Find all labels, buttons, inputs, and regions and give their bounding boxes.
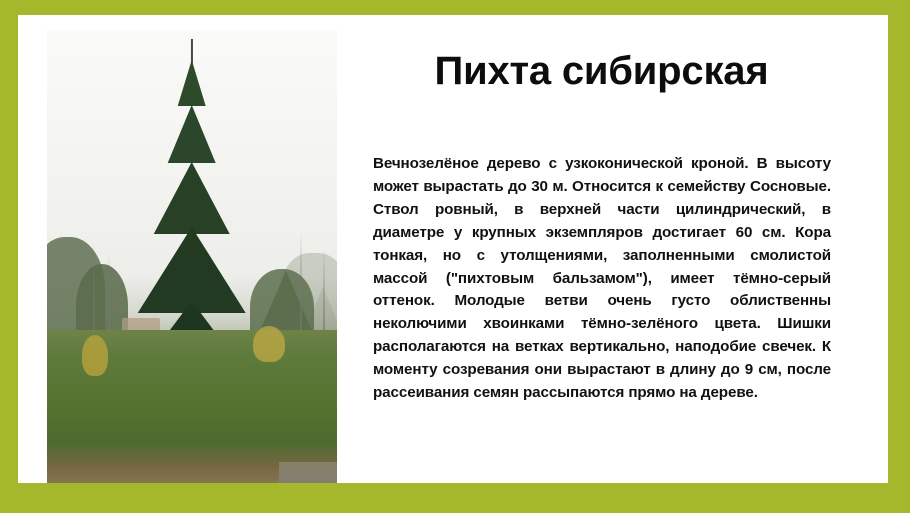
yellow-shrub-right — [253, 326, 285, 362]
fir-crown-layer-1 — [178, 60, 206, 106]
photo-canvas — [47, 30, 337, 483]
description-text-block: Вечнозелёное дерево с узкоконической кро… — [373, 153, 831, 405]
siberian-fir-tree-photo — [47, 30, 337, 483]
fir-crown-layer-2 — [168, 105, 216, 163]
slide-frame: Пихта сибирская Вечнозелёное дерево с уз… — [0, 0, 910, 513]
road-corner — [279, 462, 337, 483]
yellow-shrub-left — [82, 335, 108, 376]
fir-crown-layer-3 — [154, 162, 230, 234]
page-title: Пихта сибирская — [373, 48, 830, 94]
slide-content-area: Пихта сибирская Вечнозелёное дерево с уз… — [18, 15, 888, 483]
description-paragraph: Вечнозелёное дерево с узкоконической кро… — [373, 153, 831, 405]
